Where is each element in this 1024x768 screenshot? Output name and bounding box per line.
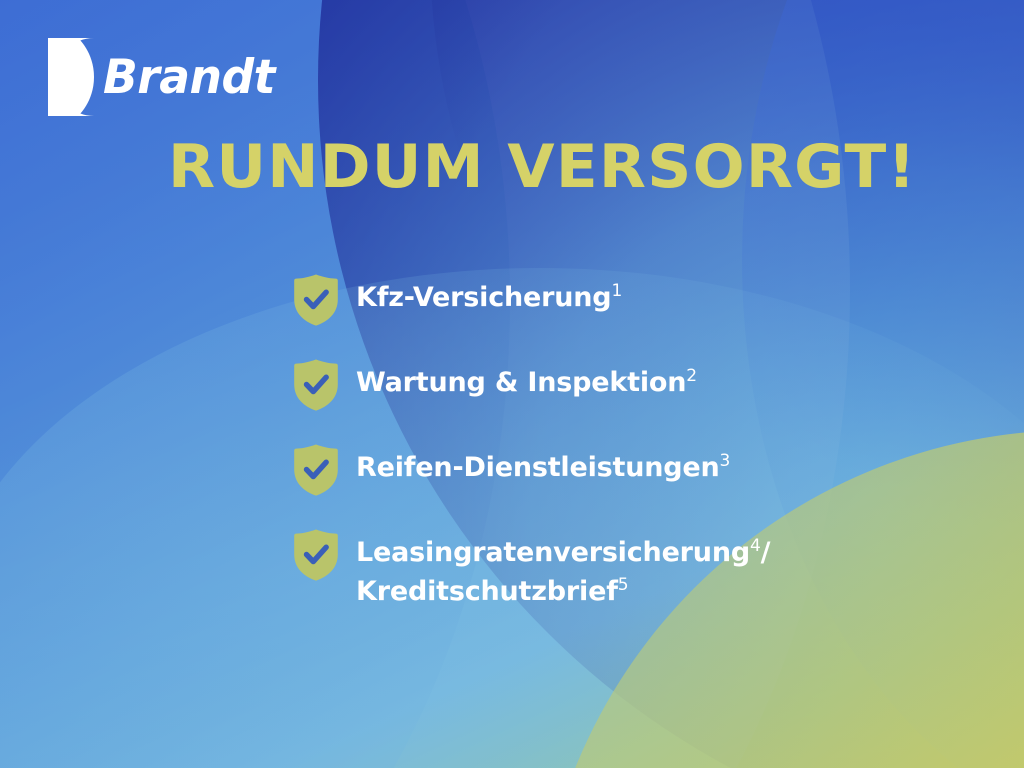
list-item: Reifen-Dienstleistungen3	[292, 442, 770, 527]
shield-check-icon	[292, 528, 340, 582]
promo-slide: Brandt RUNDUM VERSORGT! Kfz-Versicherung…	[0, 0, 1024, 768]
shield-check-icon	[292, 443, 340, 497]
brandt-bracket-logomark	[48, 38, 94, 116]
brand-wordmark: Brandt	[103, 54, 275, 101]
list-item: Leasingratenversicherung4/Kreditschutzbr…	[292, 527, 770, 612]
list-item-label: Wartung & Inspektion2	[356, 357, 697, 402]
feature-list: Kfz-Versicherung1 Wartung & Inspektion2 …	[292, 272, 770, 612]
brand-logo: Brandt	[48, 38, 280, 116]
page-title: RUNDUM VERSORGT!	[168, 137, 917, 197]
list-item: Kfz-Versicherung1	[292, 272, 770, 357]
list-item: Wartung & Inspektion2	[292, 357, 770, 442]
list-item-label: Reifen-Dienstleistungen3	[356, 442, 730, 487]
shield-check-icon	[292, 358, 340, 412]
shield-check-icon	[292, 273, 340, 327]
list-item-label: Leasingratenversicherung4/Kreditschutzbr…	[356, 527, 770, 612]
list-item-label: Kfz-Versicherung1	[356, 272, 622, 317]
